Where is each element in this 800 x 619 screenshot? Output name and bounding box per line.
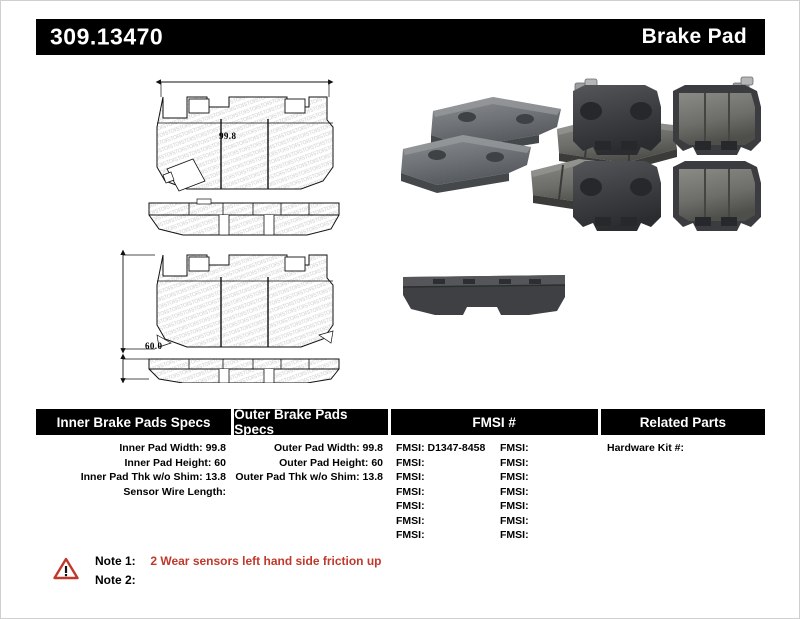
fmsi-entry: FMSI: — [496, 485, 600, 500]
note-1-label: Note 1: — [95, 554, 147, 568]
spec-outer-pad-height: Outer Pad Height: 60 — [235, 456, 389, 471]
fmsi-entry: FMSI: — [496, 528, 600, 543]
spec-sheet-page: 309.13470 Brake Pad STOPTECH — [0, 0, 800, 619]
fmsi-entry: FMSI: — [496, 470, 600, 485]
fmsi-entry: FMSI: — [392, 485, 496, 500]
fmsi-entry: FMSI: D1347-8458 — [392, 441, 496, 456]
fmsi-entry: FMSI: — [496, 499, 600, 514]
fmsi-entry: FMSI: — [496, 514, 600, 529]
fmsi-entry: FMSI: — [496, 441, 600, 456]
fmsi-column: FMSI: D1347-8458 FMSI: FMSI: FMSI: FMSI:… — [392, 441, 600, 543]
related-part-hardware-kit: Hardware Kit #: — [603, 441, 768, 456]
fmsi-entry: FMSI: — [392, 514, 496, 529]
spec-sensor-wire-length: Sensor Wire Length: — [36, 485, 232, 500]
product-photos — [389, 63, 769, 363]
top-pad-face-view — [157, 97, 333, 191]
spec-inner-pad-height: Inner Pad Height: 60 — [36, 456, 232, 471]
height-dimension — [123, 255, 155, 349]
note-2-label: Note 2: — [95, 573, 147, 587]
warning-triangle-icon — [53, 557, 79, 580]
thickness-dimension — [123, 359, 149, 379]
table-header-row: Inner Brake Pads Specs Outer Brake Pads … — [36, 409, 765, 435]
fmsi-left-subcolumn: FMSI: D1347-8458 FMSI: FMSI: FMSI: FMSI:… — [392, 441, 496, 543]
width-dimension — [161, 82, 329, 97]
fmsi-entry: FMSI: — [392, 470, 496, 485]
width-dimension-label: 99.8 — [219, 131, 236, 141]
fmsi-entry: FMSI: — [392, 456, 496, 471]
column-header-fmsi: FMSI # — [391, 409, 598, 435]
document-type-title: Brake Pad — [642, 25, 747, 49]
note-1-value: 2 Wear sensors left hand side friction u… — [150, 554, 381, 568]
product-photo-group — [389, 63, 769, 363]
engineering-drawings: STOPTECH — [101, 63, 351, 383]
pad-edge-profile-view — [149, 199, 339, 235]
related-parts-column: Hardware Kit #: — [603, 441, 768, 456]
bottom-pad-face-view — [157, 255, 333, 347]
note-2-row: Note 2: — [95, 573, 147, 587]
pad-thickness-profile-view — [149, 359, 339, 383]
spec-outer-pad-width: Outer Pad Width: 99.8 — [235, 441, 389, 456]
note-1-row: Note 1: 2 Wear sensors left hand side fr… — [95, 554, 382, 568]
header-bar: 309.13470 Brake Pad — [36, 19, 765, 55]
pad-dimension-drawing: STOPTECH — [101, 63, 351, 383]
fmsi-right-subcolumn: FMSI: FMSI: FMSI: FMSI: FMSI: FMSI: FMSI… — [496, 441, 600, 543]
specifications-table: Inner Brake Pads Specs Outer Brake Pads … — [36, 409, 765, 549]
column-header-related-parts: Related Parts — [601, 409, 765, 435]
column-header-outer-specs: Outer Brake Pads Specs — [234, 409, 387, 435]
brake-pad-edge-photo — [403, 275, 565, 315]
inner-specs-column: Inner Pad Width: 99.8 Inner Pad Height: … — [36, 441, 232, 499]
height-dimension-label: 60.0 — [145, 341, 162, 351]
outer-specs-column: Outer Pad Width: 99.8 Outer Pad Height: … — [235, 441, 389, 485]
spec-inner-pad-width: Inner Pad Width: 99.8 — [36, 441, 232, 456]
column-header-inner-specs: Inner Brake Pads Specs — [36, 409, 231, 435]
part-number: 309.13470 — [50, 24, 163, 51]
fmsi-entry: FMSI: — [392, 528, 496, 543]
fmsi-entry: FMSI: — [392, 499, 496, 514]
spec-inner-pad-thickness: Inner Pad Thk w/o Shim: 13.8 — [36, 470, 232, 485]
spec-outer-pad-thickness: Outer Pad Thk w/o Shim: 13.8 — [235, 470, 389, 485]
fmsi-entry: FMSI: — [496, 456, 600, 471]
